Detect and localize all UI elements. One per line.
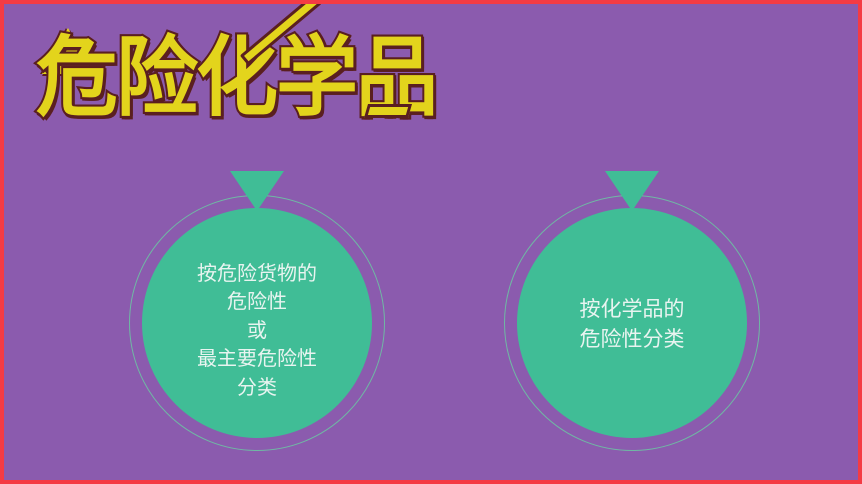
group-left-label: 按危险货物的 危险性 或 最主要危险性 分类 (151, 259, 363, 401)
classification-group-right[interactable]: 按化学品的 危险性分类 (504, 195, 760, 455)
down-triangle-icon (230, 171, 284, 211)
title-dash-accent-icon (364, 104, 412, 118)
group-right-label: 按化学品的 危险性分类 (526, 295, 738, 355)
slide-canvas: 危险化学品 按危险货物的 危险性 或 最主要危险性 分类 按化学品的 危险性分类 (0, 0, 862, 484)
classification-group-left[interactable]: 按危险货物的 危险性 或 最主要危险性 分类 (129, 195, 385, 455)
down-triangle-icon (605, 171, 659, 211)
slide-title-block: 危险化学品 (36, 26, 436, 138)
